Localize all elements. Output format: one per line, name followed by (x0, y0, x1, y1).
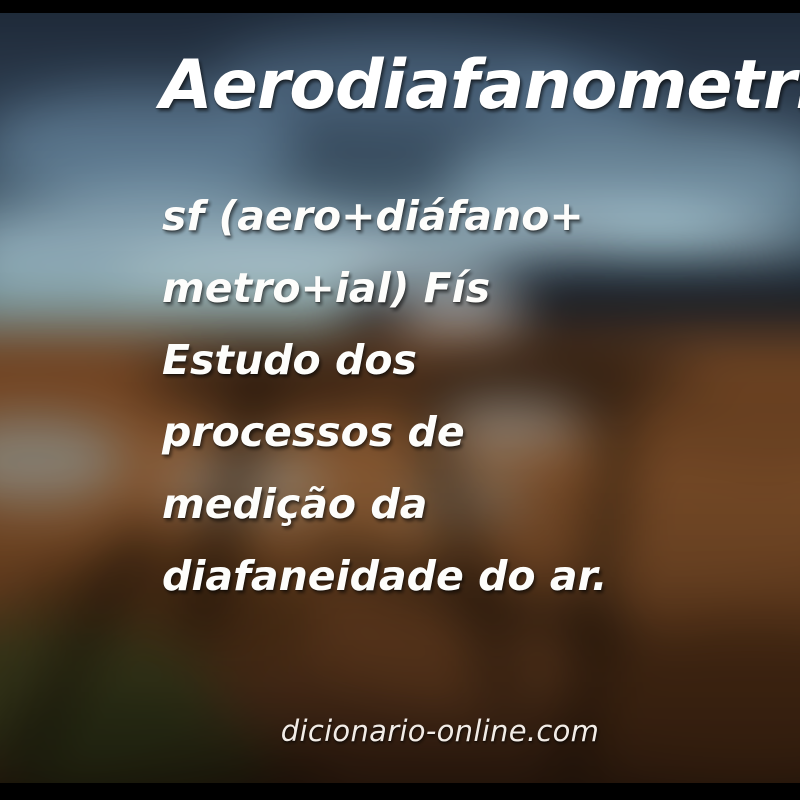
dictionary-image-card: Aerodiafanometria sf (aero+diáfano+ metr… (0, 0, 800, 800)
letterbox-bar-bottom (0, 783, 800, 800)
definition-line: Estudo dos (162, 324, 632, 396)
definition-line: processos de (162, 396, 632, 468)
definition-line: metro+ial) Fís (162, 252, 632, 324)
letterbox-bar-top (0, 0, 800, 13)
definition-line: diafaneidade do ar. (162, 540, 632, 612)
headword-title: Aerodiafanometria (160, 52, 800, 120)
site-watermark: dicionario-online.com (0, 714, 800, 748)
definition-text: sf (aero+diáfano+ metro+ial) Fís Estudo … (162, 180, 632, 612)
text-overlay: Aerodiafanometria sf (aero+diáfano+ metr… (0, 0, 800, 800)
definition-line: medição da (162, 468, 632, 540)
definition-line: sf (aero+diáfano+ (162, 180, 632, 252)
